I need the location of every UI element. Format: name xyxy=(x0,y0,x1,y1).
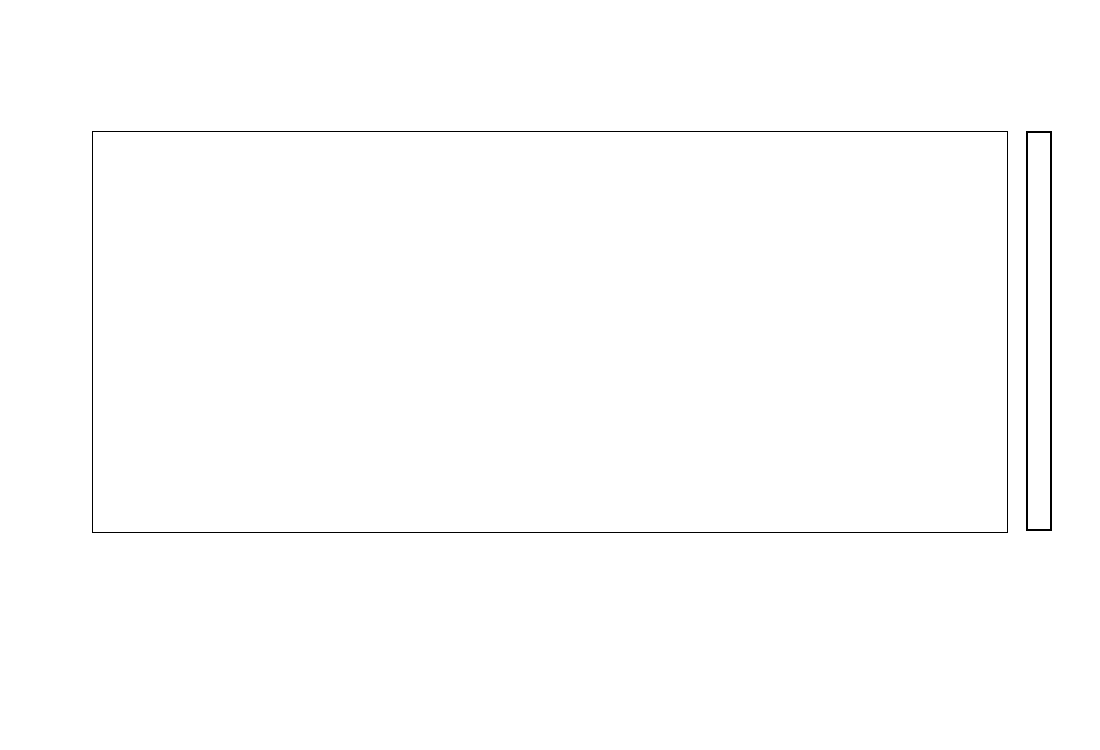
salinity-plot-page xyxy=(0,0,1100,750)
colorbar xyxy=(1026,131,1052,531)
heatmap-plot-area xyxy=(92,131,1008,533)
colorbar-gradient xyxy=(1028,133,1050,529)
salinity-heatmap xyxy=(93,132,1007,532)
